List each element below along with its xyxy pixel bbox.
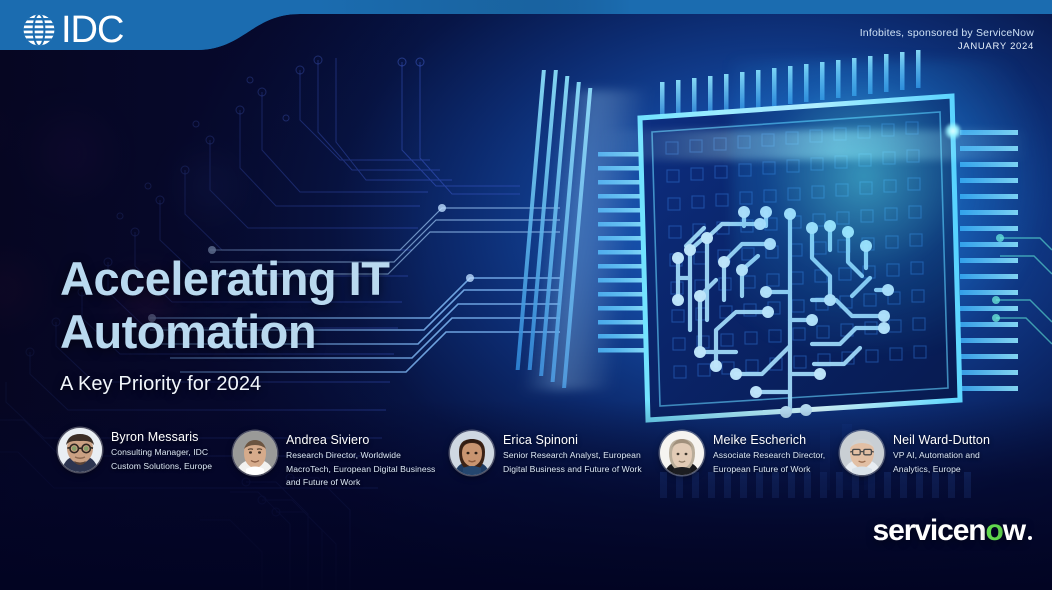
speaker-item[interactable]: Meike Escherich Associate Research Direc… bbox=[660, 431, 825, 475]
servicenow-logo-part1: servicen bbox=[873, 514, 986, 548]
speaker-role-line: Consulting Manager, IDC bbox=[111, 447, 212, 459]
avatar-meike-escherich bbox=[660, 431, 704, 475]
speaker-text: Andrea Siviero Research Director, Worldw… bbox=[286, 431, 435, 489]
idc-logo-text: IDC bbox=[61, 13, 123, 47]
idc-logo[interactable]: IDC bbox=[22, 11, 123, 49]
speaker-name: Byron Messaris bbox=[111, 430, 212, 445]
speaker-item[interactable]: Byron Messaris Consulting Manager, IDC C… bbox=[58, 428, 212, 472]
speaker-name: Meike Escherich bbox=[713, 433, 825, 448]
servicenow-logo-part2: w bbox=[1003, 514, 1025, 548]
speaker-role-line: VP AI, Automation and bbox=[893, 450, 990, 462]
corner-glow bbox=[732, 60, 1052, 350]
servicenow-logo-dot bbox=[1028, 536, 1032, 540]
speaker-name: Erica Spinoni bbox=[503, 433, 642, 448]
speaker-role-line: Custom Solutions, Europe bbox=[111, 461, 212, 473]
page-title: Accelerating IT Automation bbox=[60, 252, 389, 358]
speaker-text: Byron Messaris Consulting Manager, IDC C… bbox=[111, 428, 212, 472]
speaker-text: Neil Ward-Dutton VP AI, Automation and A… bbox=[893, 431, 990, 475]
speaker-role-line: European Future of Work bbox=[713, 464, 825, 476]
speaker-role-line: Associate Research Director, bbox=[713, 450, 825, 462]
speaker-role-line: MacroTech, European Digital Business bbox=[286, 464, 435, 476]
speaker-name: Neil Ward-Dutton bbox=[893, 433, 990, 448]
speaker-role-line: Research Director, Worldwide bbox=[286, 450, 435, 462]
speaker-item[interactable]: Andrea Siviero Research Director, Worldw… bbox=[233, 431, 435, 489]
publication-date: JANUARY 2024 bbox=[860, 40, 1034, 54]
title-line-2: Automation bbox=[60, 305, 389, 358]
speaker-item[interactable]: Neil Ward-Dutton VP AI, Automation and A… bbox=[840, 431, 990, 475]
speaker-text: Meike Escherich Associate Research Direc… bbox=[713, 431, 825, 475]
speaker-item[interactable]: Erica Spinoni Senior Research Analyst, E… bbox=[450, 431, 642, 475]
slide-root: IDC Infobites, sponsored by ServiceNow J… bbox=[0, 0, 1052, 590]
speaker-role-line: Senior Research Analyst, European bbox=[503, 450, 642, 462]
sponsor-line: Infobites, sponsored by ServiceNow bbox=[860, 27, 1034, 40]
page-subtitle: A Key Priority for 2024 bbox=[60, 373, 261, 396]
header-bar: IDC Infobites, sponsored by ServiceNow J… bbox=[0, 0, 1052, 60]
servicenow-logo[interactable]: servicenow bbox=[873, 514, 1032, 548]
avatar-byron-messaris bbox=[58, 428, 102, 472]
speaker-role-line: Digital Business and Future of Work bbox=[503, 464, 642, 476]
speaker-role-line: and Future of Work bbox=[286, 477, 435, 489]
idc-globe-icon bbox=[22, 13, 56, 47]
avatar-andrea-siviero bbox=[233, 431, 277, 475]
speaker-text: Erica Spinoni Senior Research Analyst, E… bbox=[503, 431, 642, 475]
speaker-list: Byron Messaris Consulting Manager, IDC C… bbox=[0, 418, 1052, 494]
speaker-role-line: Analytics, Europe bbox=[893, 464, 990, 476]
speaker-name: Andrea Siviero bbox=[286, 433, 435, 448]
title-line-1: Accelerating IT bbox=[60, 252, 389, 305]
spark-glow bbox=[944, 122, 962, 140]
avatar-neil-ward-dutton bbox=[840, 431, 884, 475]
servicenow-logo-accent-o: o bbox=[986, 514, 1003, 548]
header-meta: Infobites, sponsored by ServiceNow JANUA… bbox=[860, 27, 1034, 54]
avatar-erica-spinoni bbox=[450, 431, 494, 475]
